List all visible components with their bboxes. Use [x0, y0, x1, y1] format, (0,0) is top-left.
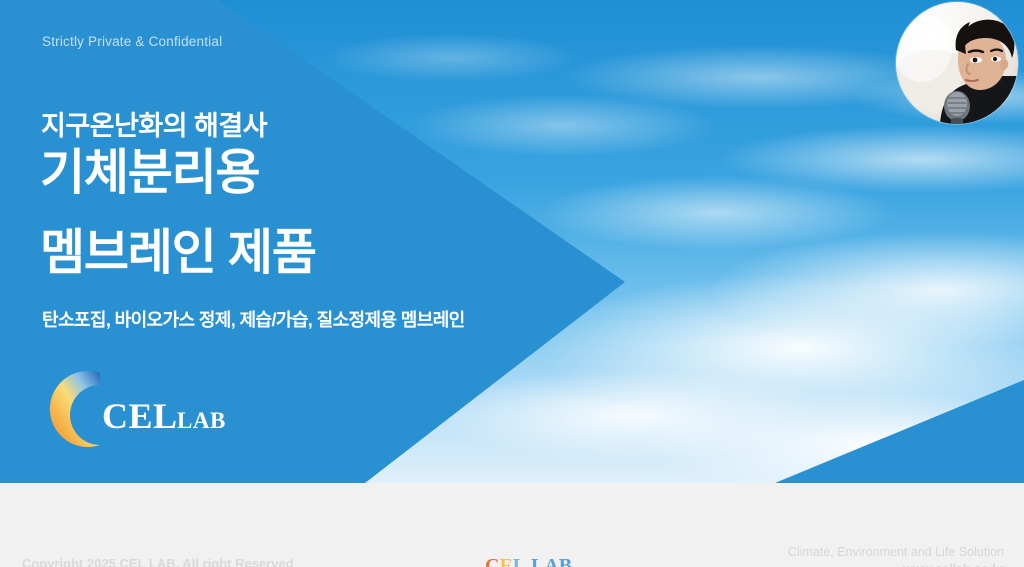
footer-tagline: Climate, Environment and Life Solution — [788, 545, 1004, 559]
presentation-screen: Strictly Private & Confidential 지구온난화의 해… — [0, 0, 1024, 567]
footer-copyright: Copyright 2025 CEL LAB. All right Reserv… — [22, 556, 294, 567]
slide-title-line-2: 멤브레인 제품 — [40, 228, 316, 279]
slide-eyebrow-text: 지구온난화의 해결사 — [41, 104, 267, 143]
slide-title-line-1: 기체분리용 — [40, 148, 259, 199]
footer-cel-lab-logo: CEL LAB — [485, 552, 605, 567]
title-slide: Strictly Private & Confidential 지구온난화의 해… — [0, 0, 1024, 483]
footer-website-url[interactable]: www.cellab.co.kr — [903, 562, 1004, 567]
confidential-notice: Strictly Private & Confidential — [42, 34, 222, 49]
cel-lab-logo: CEL LAB — [40, 365, 240, 455]
footer-logo-text-cel: CEL — [485, 555, 526, 567]
footer-logo-text-lab: LAB — [531, 555, 572, 567]
logo-text-cel: CEL — [102, 396, 178, 436]
slide-subtitle: 탄소포집, 바이오가스 정제, 제습/가습, 질소정제용 멤브레인 — [42, 306, 465, 332]
presenter-video-bubble[interactable] — [896, 2, 1018, 124]
logo-text-lab: LAB — [177, 408, 226, 433]
presenter-avatar — [896, 2, 1018, 124]
